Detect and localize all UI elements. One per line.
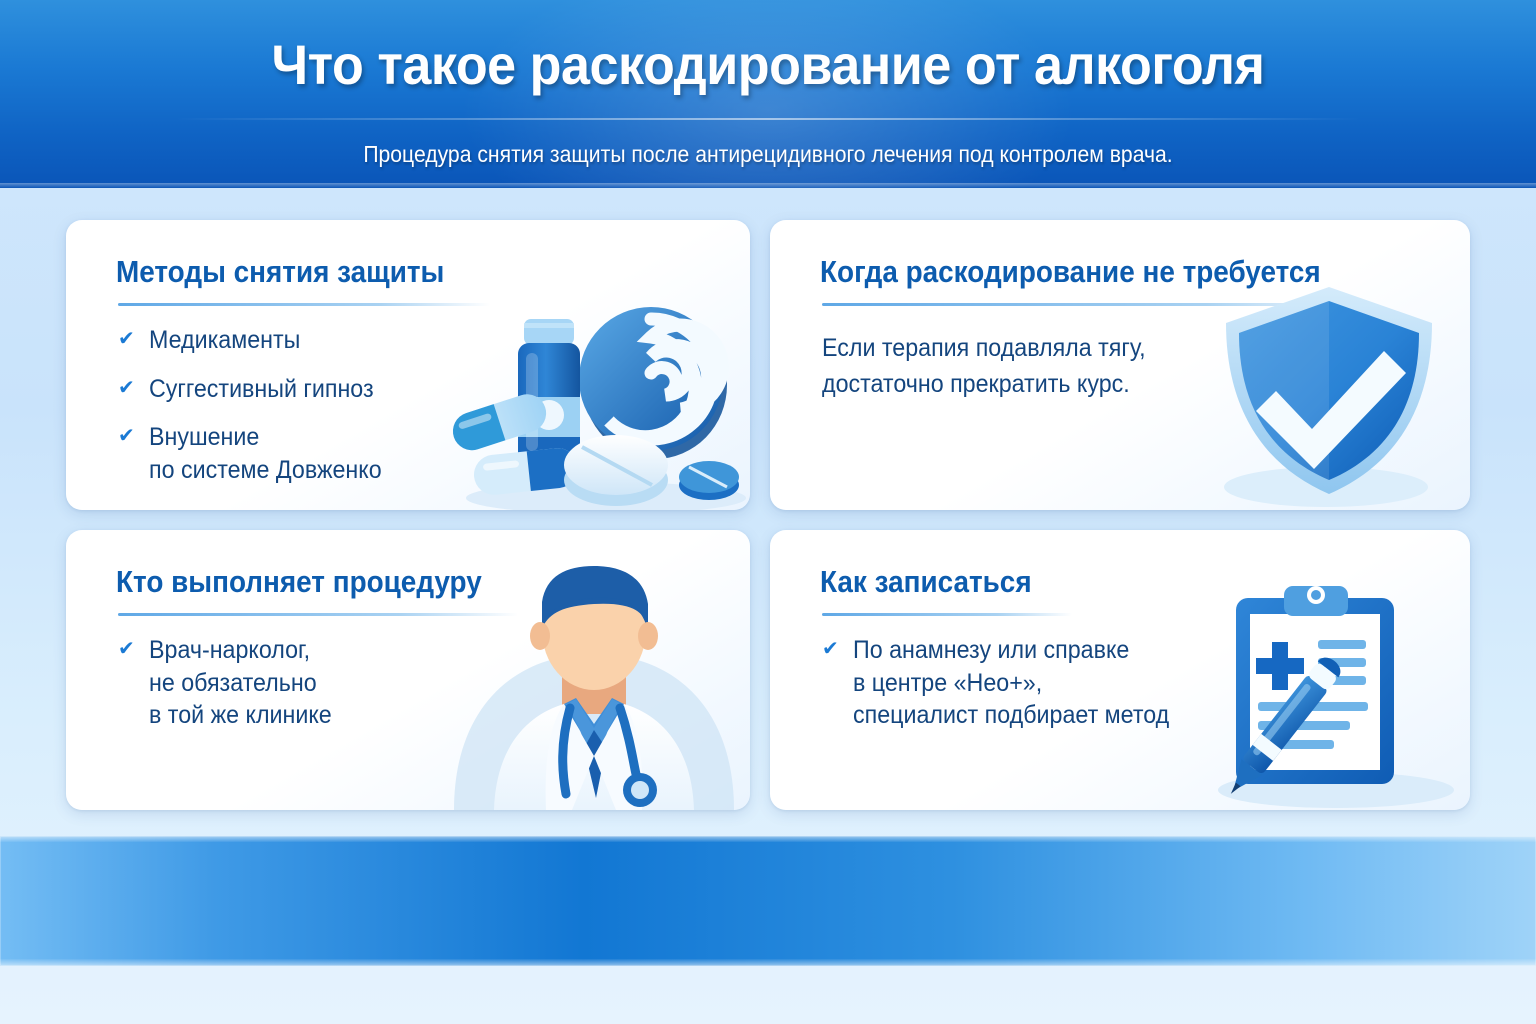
check-icon: ✔ [822, 639, 844, 659]
list-item-label: Внушение по системе Довженко [149, 421, 382, 486]
clipboard-pen-illustration [1200, 582, 1456, 810]
page-title: Что такое раскодирование от алкоголя [54, 32, 1482, 97]
shield-check-icon [1204, 279, 1454, 510]
check-icon: ✔ [118, 426, 140, 446]
check-icon: ✔ [118, 329, 140, 349]
list-item-label: Медикаменты [149, 324, 300, 357]
list-item: ✔ Внушение по системе Довженко [118, 421, 501, 486]
bullet-list-who-performs: ✔ Врач-нарколог, не обязательно в той же… [118, 634, 501, 748]
list-item-label: Суггестивный гипноз [149, 373, 374, 406]
card-title-underline [118, 303, 490, 306]
card-title-who-performs: Кто выполняет процедуру [116, 564, 482, 600]
list-item: ✔ Врач-нарколог, не обязательно в той же… [118, 634, 501, 732]
card-who-performs: Кто выполняет процедуру ✔ Врач-нарколог,… [66, 530, 750, 810]
bullet-list-how-to-book: ✔ По анамнезу или справке в центре «Нео+… [822, 634, 1214, 748]
footer-banner: Безопасное и контролируемое снятие блока… [0, 836, 1536, 966]
card-title-underline [822, 303, 1370, 306]
list-item: ✔ Суггестивный гипноз [118, 373, 501, 406]
list-item: ✔ Медикаменты [118, 324, 501, 357]
card-title-methods: Методы снятия защиты [116, 254, 444, 290]
card-how-to-book: Как записаться ✔ По анамнезу или справке… [770, 530, 1470, 810]
check-icon: ✔ [118, 639, 140, 659]
list-item: ✔ По анамнезу или справке в центре «Нео+… [822, 634, 1214, 732]
card-paragraph: Если терапия подавляла тягу, достаточно … [822, 330, 1174, 403]
card-methods: Методы снятия защиты ✔ Медикаменты ✔ Суг… [66, 220, 750, 510]
card-title-when-not-needed: Когда раскодирование не требуется [820, 254, 1321, 290]
bullet-list-methods: ✔ Медикаменты ✔ Суггестивный гипноз ✔ Вн… [118, 324, 501, 502]
list-item-label: Врач-нарколог, не обязательно в той же к… [149, 634, 332, 732]
card-title-underline [822, 613, 1072, 616]
check-icon: ✔ [118, 378, 140, 398]
header-banner: Что такое раскодирование от алкоголя Про… [0, 0, 1536, 188]
card-title-underline [118, 613, 518, 616]
header-divider [175, 118, 1361, 120]
page-subtitle: Процедура снятия защиты после антирециди… [61, 141, 1474, 168]
card-when-not-needed: Когда раскодирование не требуется Если т… [770, 220, 1470, 510]
card-title-how-to-book: Как записаться [820, 564, 1032, 600]
list-item-label: По анамнезу или справке в центре «Нео+»,… [853, 634, 1169, 732]
infographic-poster: Что такое раскодирование от алкоголя Про… [0, 0, 1536, 1024]
